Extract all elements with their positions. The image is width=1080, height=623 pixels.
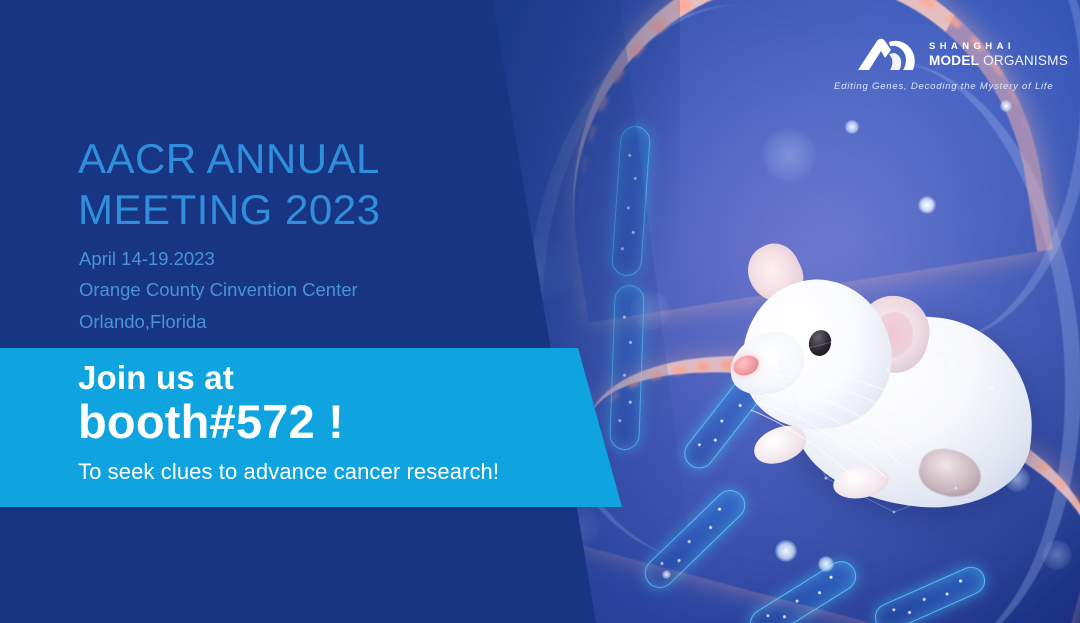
logo-lockup-row: SHANGHAI MODEL ORGANISMS [856,36,1052,74]
callout-join-us: Join us at [78,360,499,397]
event-venue: Orange County Cinvention Center [79,274,358,305]
chevron-mark-icon [856,36,918,74]
logo-model-organisms-line: MODEL ORGANISMS [929,53,1068,69]
company-logo: SHANGHAI MODEL ORGANISMS Editing Genes, … [856,36,1052,104]
callout-booth-number: booth#572 ! [78,396,499,449]
event-dates: April 14-19.2023 [79,243,358,274]
callout-subtitle: To seek clues to advance cancer research… [78,458,499,487]
booth-callout-banner: Join us at booth#572 ! To seek clues to … [0,348,625,507]
promo-banner: AACR ANNUAL MEETING 2023 April 14-19.202… [0,0,1080,623]
event-city: Orlando,Florida [79,306,358,337]
particle-network-overlay [760,330,1010,530]
logo-word-model: MODEL [929,53,979,68]
logo-word-organisms: ORGANISMS [983,53,1068,68]
navy-wedge-feather [380,0,680,623]
logo-shanghai-line: SHANGHAI [929,41,1068,53]
event-details: April 14-19.2023 Orange County Cinventio… [79,243,358,337]
page-title: AACR ANNUAL MEETING 2023 [78,133,380,235]
booth-callout-text: Join us at booth#572 ! To seek clues to … [78,360,499,486]
logo-tagline: Editing Genes, Decoding the Mystery of L… [834,81,1052,92]
logo-wordmark: SHANGHAI MODEL ORGANISMS [929,40,1068,69]
